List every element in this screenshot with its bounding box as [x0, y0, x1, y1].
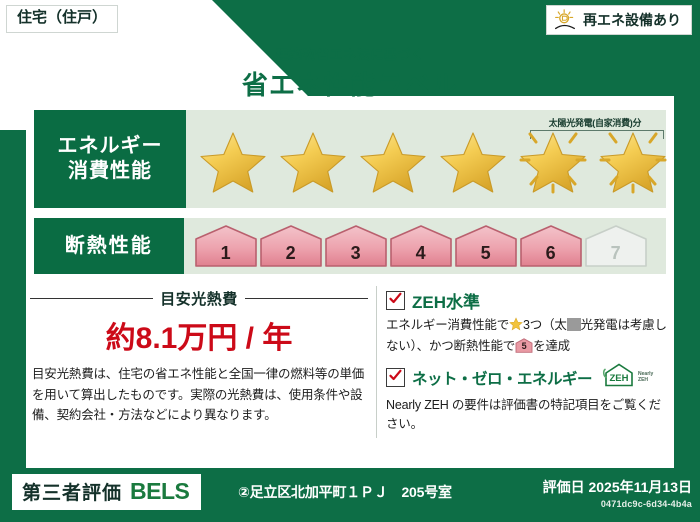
- renewable-energy-badge: 再エネ設備あり: [546, 5, 692, 35]
- bels-badge: 第三者評価 BELS: [12, 474, 201, 510]
- evaluation-meta: 評価日 2025年11月13日 0471dc9c-6d34-4b4a: [543, 477, 692, 509]
- check-icon: [389, 292, 402, 310]
- sun-solar-icon: [553, 9, 577, 31]
- insulation-grades-panel: 1234567: [184, 218, 666, 274]
- inline-grade-number: 5: [515, 340, 533, 354]
- insulation-grade-number: 7: [611, 243, 621, 268]
- star-4: [434, 122, 512, 196]
- zeh-standard-header: ZEH水準: [386, 288, 670, 313]
- check-icon: [389, 369, 402, 387]
- utility-cost-description: 目安光熱費は、住宅の省エネ性能と全国一律の燃料等の単価を用いて算出したものです。…: [32, 364, 366, 426]
- insulation-grade-1: 1: [194, 224, 258, 268]
- net-zero-energy-checkbox[interactable]: [386, 368, 405, 387]
- insulation-grade-3: 3: [324, 224, 388, 268]
- svg-text:ZEH: ZEH: [610, 373, 629, 384]
- star-6: [594, 122, 672, 196]
- insulation-performance-label-box: 断熱性能: [34, 218, 184, 274]
- insulation-grade-number: 2: [286, 243, 296, 268]
- zeh-standard-body: エネルギー消費性能で3つ（太光発電は考慮しない）、かつ断熱性能で5を達成: [386, 316, 670, 357]
- title-main: 省エネ性能ラベル: [0, 65, 700, 102]
- utility-cost-heading-text: 目安光熱費: [160, 288, 238, 309]
- insulation-grade-number: 6: [546, 243, 556, 268]
- energy-performance-label: 住宅（住戸） 再エネ設備あり 建築物省エネ法に基づく 省エネ性能ラベル: [0, 0, 700, 522]
- star-3: [354, 122, 432, 196]
- heading-rule-left: [30, 298, 153, 299]
- energy-stars-panel: 太陽光発電(自家消費)分: [186, 110, 666, 208]
- insulation-grade-number: 1: [221, 243, 231, 268]
- insulation-grade-6: 6: [519, 224, 583, 268]
- star-5: [514, 122, 592, 196]
- insulation-grade-number: 5: [481, 243, 491, 268]
- zeh-logo-subtext: Nearly ZEH: [638, 372, 653, 383]
- utility-cost-heading: 目安光熱費: [30, 288, 368, 309]
- zeh-standard-block: ZEH水準 エネルギー消費性能で3つ（太光発電は考慮しない）、かつ断熱性能で5を…: [386, 288, 670, 357]
- energy-performance-row: エネルギー 消費性能 太陽光発電(自家消費)分: [34, 110, 666, 208]
- insulation-grade-5: 5: [454, 224, 518, 268]
- energy-label-line1: エネルギー: [58, 134, 163, 159]
- title-subtitle: 建築物省エネ法に基づく: [0, 44, 700, 63]
- energy-star-rating: [186, 122, 672, 196]
- insulation-grade-4: 4: [389, 224, 453, 268]
- star-2: [274, 122, 352, 196]
- inline-grade-badge: 5: [515, 338, 533, 353]
- net-zero-energy-block: ネット・ゼロ・エネルギー ZEH Nearly ZEH Nearly ZEH の…: [386, 362, 670, 435]
- zeh-standard-checkbox[interactable]: [386, 291, 405, 310]
- zeh-logo: ZEH Nearly ZEH: [602, 362, 653, 393]
- renewable-badge-label: 再エネ設備あり: [583, 10, 681, 30]
- property-address: ②足立区北加平町１ＰＪ 205号室: [238, 482, 452, 502]
- evaluation-date-value: 2025年11月13日: [588, 479, 692, 495]
- zeh-body-end: を達成: [533, 339, 570, 353]
- column-divider: [376, 286, 377, 438]
- label-footer: 第三者評価 BELS ②足立区北加平町１ＰＪ 205号室 評価日 2025年11…: [0, 468, 700, 522]
- net-zero-energy-title: ネット・ゼロ・エネルギー: [412, 367, 592, 389]
- star-1: [194, 122, 272, 196]
- zeh-body-pre: エネルギー消費性能で: [386, 318, 509, 332]
- zeh-house-icon: ZEH: [602, 362, 636, 393]
- utility-cost-value: 約8.1万円 / 年: [30, 313, 368, 357]
- insulation-grade-2: 2: [259, 224, 323, 268]
- net-zero-energy-body: Nearly ZEH の要件は評価書の特記項目をご覧ください。: [386, 396, 670, 435]
- bels-en-label: BELS: [130, 478, 189, 505]
- inline-star-icon: [509, 317, 523, 337]
- insulation-grade-number: 4: [416, 243, 426, 268]
- zeh-logo-sub-line2: ZEH: [638, 377, 648, 383]
- evaluation-id: 0471dc9c-6d34-4b4a: [543, 499, 692, 509]
- label-title: 建築物省エネ法に基づく 省エネ性能ラベル: [0, 44, 700, 102]
- heading-rule-right: [245, 298, 368, 299]
- insulation-performance-row: 断熱性能 1234567: [34, 218, 666, 274]
- utility-cost-block: 目安光熱費 約8.1万円 / 年: [30, 288, 368, 357]
- insulation-grade-list: 1234567: [194, 224, 648, 268]
- net-zero-energy-header: ネット・ゼロ・エネルギー ZEH Nearly ZEH: [386, 362, 670, 393]
- evaluation-date: 評価日 2025年11月13日: [543, 477, 692, 497]
- redacted-text-block: [567, 318, 581, 331]
- energy-performance-label-box: エネルギー 消費性能: [34, 110, 186, 208]
- bels-jp-label: 第三者評価: [22, 478, 122, 505]
- zeh-standard-title: ZEH水準: [412, 288, 480, 313]
- housing-type-tag: 住宅（住戸）: [6, 5, 118, 33]
- zeh-body-mid: 3つ（太: [523, 318, 567, 332]
- evaluation-date-label: 評価日: [543, 479, 585, 495]
- energy-label-line2: 消費性能: [58, 159, 163, 184]
- insulation-grade-number: 3: [351, 243, 361, 268]
- insulation-grade-7: 7: [584, 224, 648, 268]
